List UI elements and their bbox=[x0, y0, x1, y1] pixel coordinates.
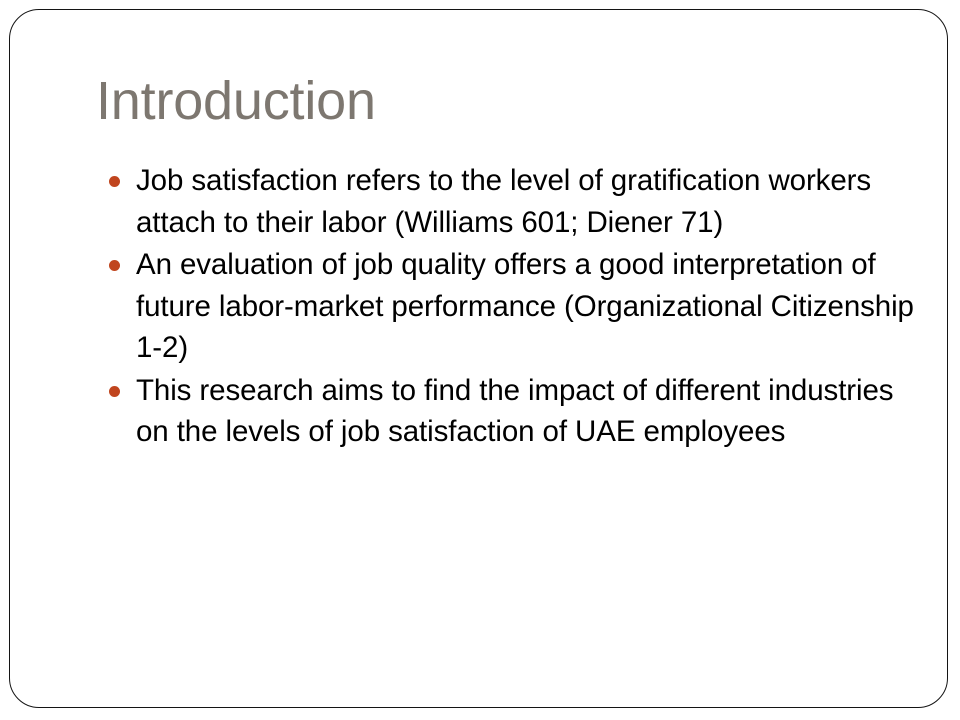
list-item-text: Job satisfaction refers to the level of … bbox=[136, 160, 926, 243]
page-title: Introduction bbox=[96, 71, 376, 131]
list-item: Job satisfaction refers to the level of … bbox=[104, 160, 926, 243]
bullet-dot-icon bbox=[109, 176, 120, 187]
list-item: This research aims to find the impact of… bbox=[104, 370, 926, 453]
bullet-list: Job satisfaction refers to the level of … bbox=[104, 160, 916, 454]
list-item-text: An evaluation of job quality offers a go… bbox=[136, 244, 926, 369]
presentation-slide: Introduction Job satisfaction refers to … bbox=[0, 0, 960, 720]
slide-content: Introduction Job satisfaction refers to … bbox=[0, 0, 960, 720]
list-item: An evaluation of job quality offers a go… bbox=[104, 244, 926, 369]
bullet-dot-icon bbox=[109, 260, 120, 271]
list-item-text: This research aims to find the impact of… bbox=[136, 370, 926, 453]
bullet-dot-icon bbox=[109, 386, 120, 397]
